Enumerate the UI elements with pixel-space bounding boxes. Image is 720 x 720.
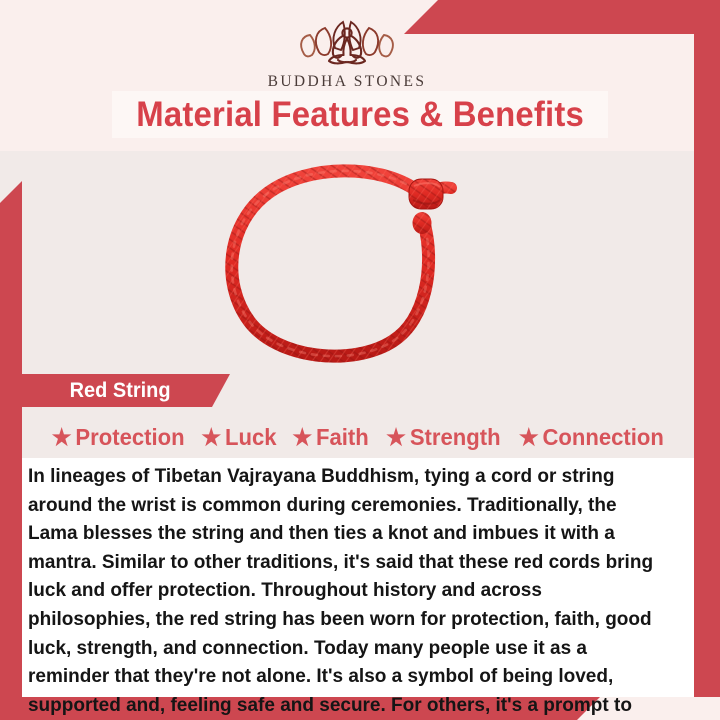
page-title-band: Material Features & Benefits <box>112 91 608 138</box>
product-name-label: Red String <box>70 379 171 403</box>
product-name-banner: Red String <box>22 374 230 407</box>
feature-item-faith: ★ Faith <box>283 424 369 451</box>
feature-label: Luck <box>225 424 277 451</box>
star-icon: ★ <box>293 426 313 449</box>
frame-left-accent <box>0 181 22 697</box>
feature-item-connection: ★ Connection <box>509 424 664 451</box>
feature-list: ★ Protection ★ Luck ★ Faith ★ Strength ★… <box>22 418 694 456</box>
feature-label: Protection <box>75 424 184 451</box>
feature-item-protection: ★ Protection <box>51 424 184 451</box>
product-image <box>22 151 672 373</box>
product-info-card: BUDDHA STONES Material Features & Benefi… <box>0 0 720 720</box>
star-icon: ★ <box>519 426 539 449</box>
lotus-meditation-icon <box>288 14 406 70</box>
star-icon: ★ <box>386 426 406 449</box>
brand-name: BUDDHA STONES <box>268 73 427 91</box>
feature-label: Faith <box>316 424 369 451</box>
feature-label: Strength <box>410 424 501 451</box>
feature-item-strength: ★ Strength <box>377 424 501 451</box>
brand-logo: BUDDHA STONES <box>0 14 694 91</box>
description-text: In lineages of Tibetan Vajrayana Buddhis… <box>28 463 666 720</box>
page-title: Material Features & Benefits <box>136 95 584 135</box>
star-icon: ★ <box>201 426 221 449</box>
feature-item-luck: ★ Luck <box>192 424 277 451</box>
frame-right-accent <box>694 0 720 697</box>
feature-label: Connection <box>543 424 664 451</box>
description-panel: In lineages of Tibetan Vajrayana Buddhis… <box>22 458 694 697</box>
red-string-bracelet-illustration <box>213 155 481 370</box>
star-icon: ★ <box>51 426 71 449</box>
